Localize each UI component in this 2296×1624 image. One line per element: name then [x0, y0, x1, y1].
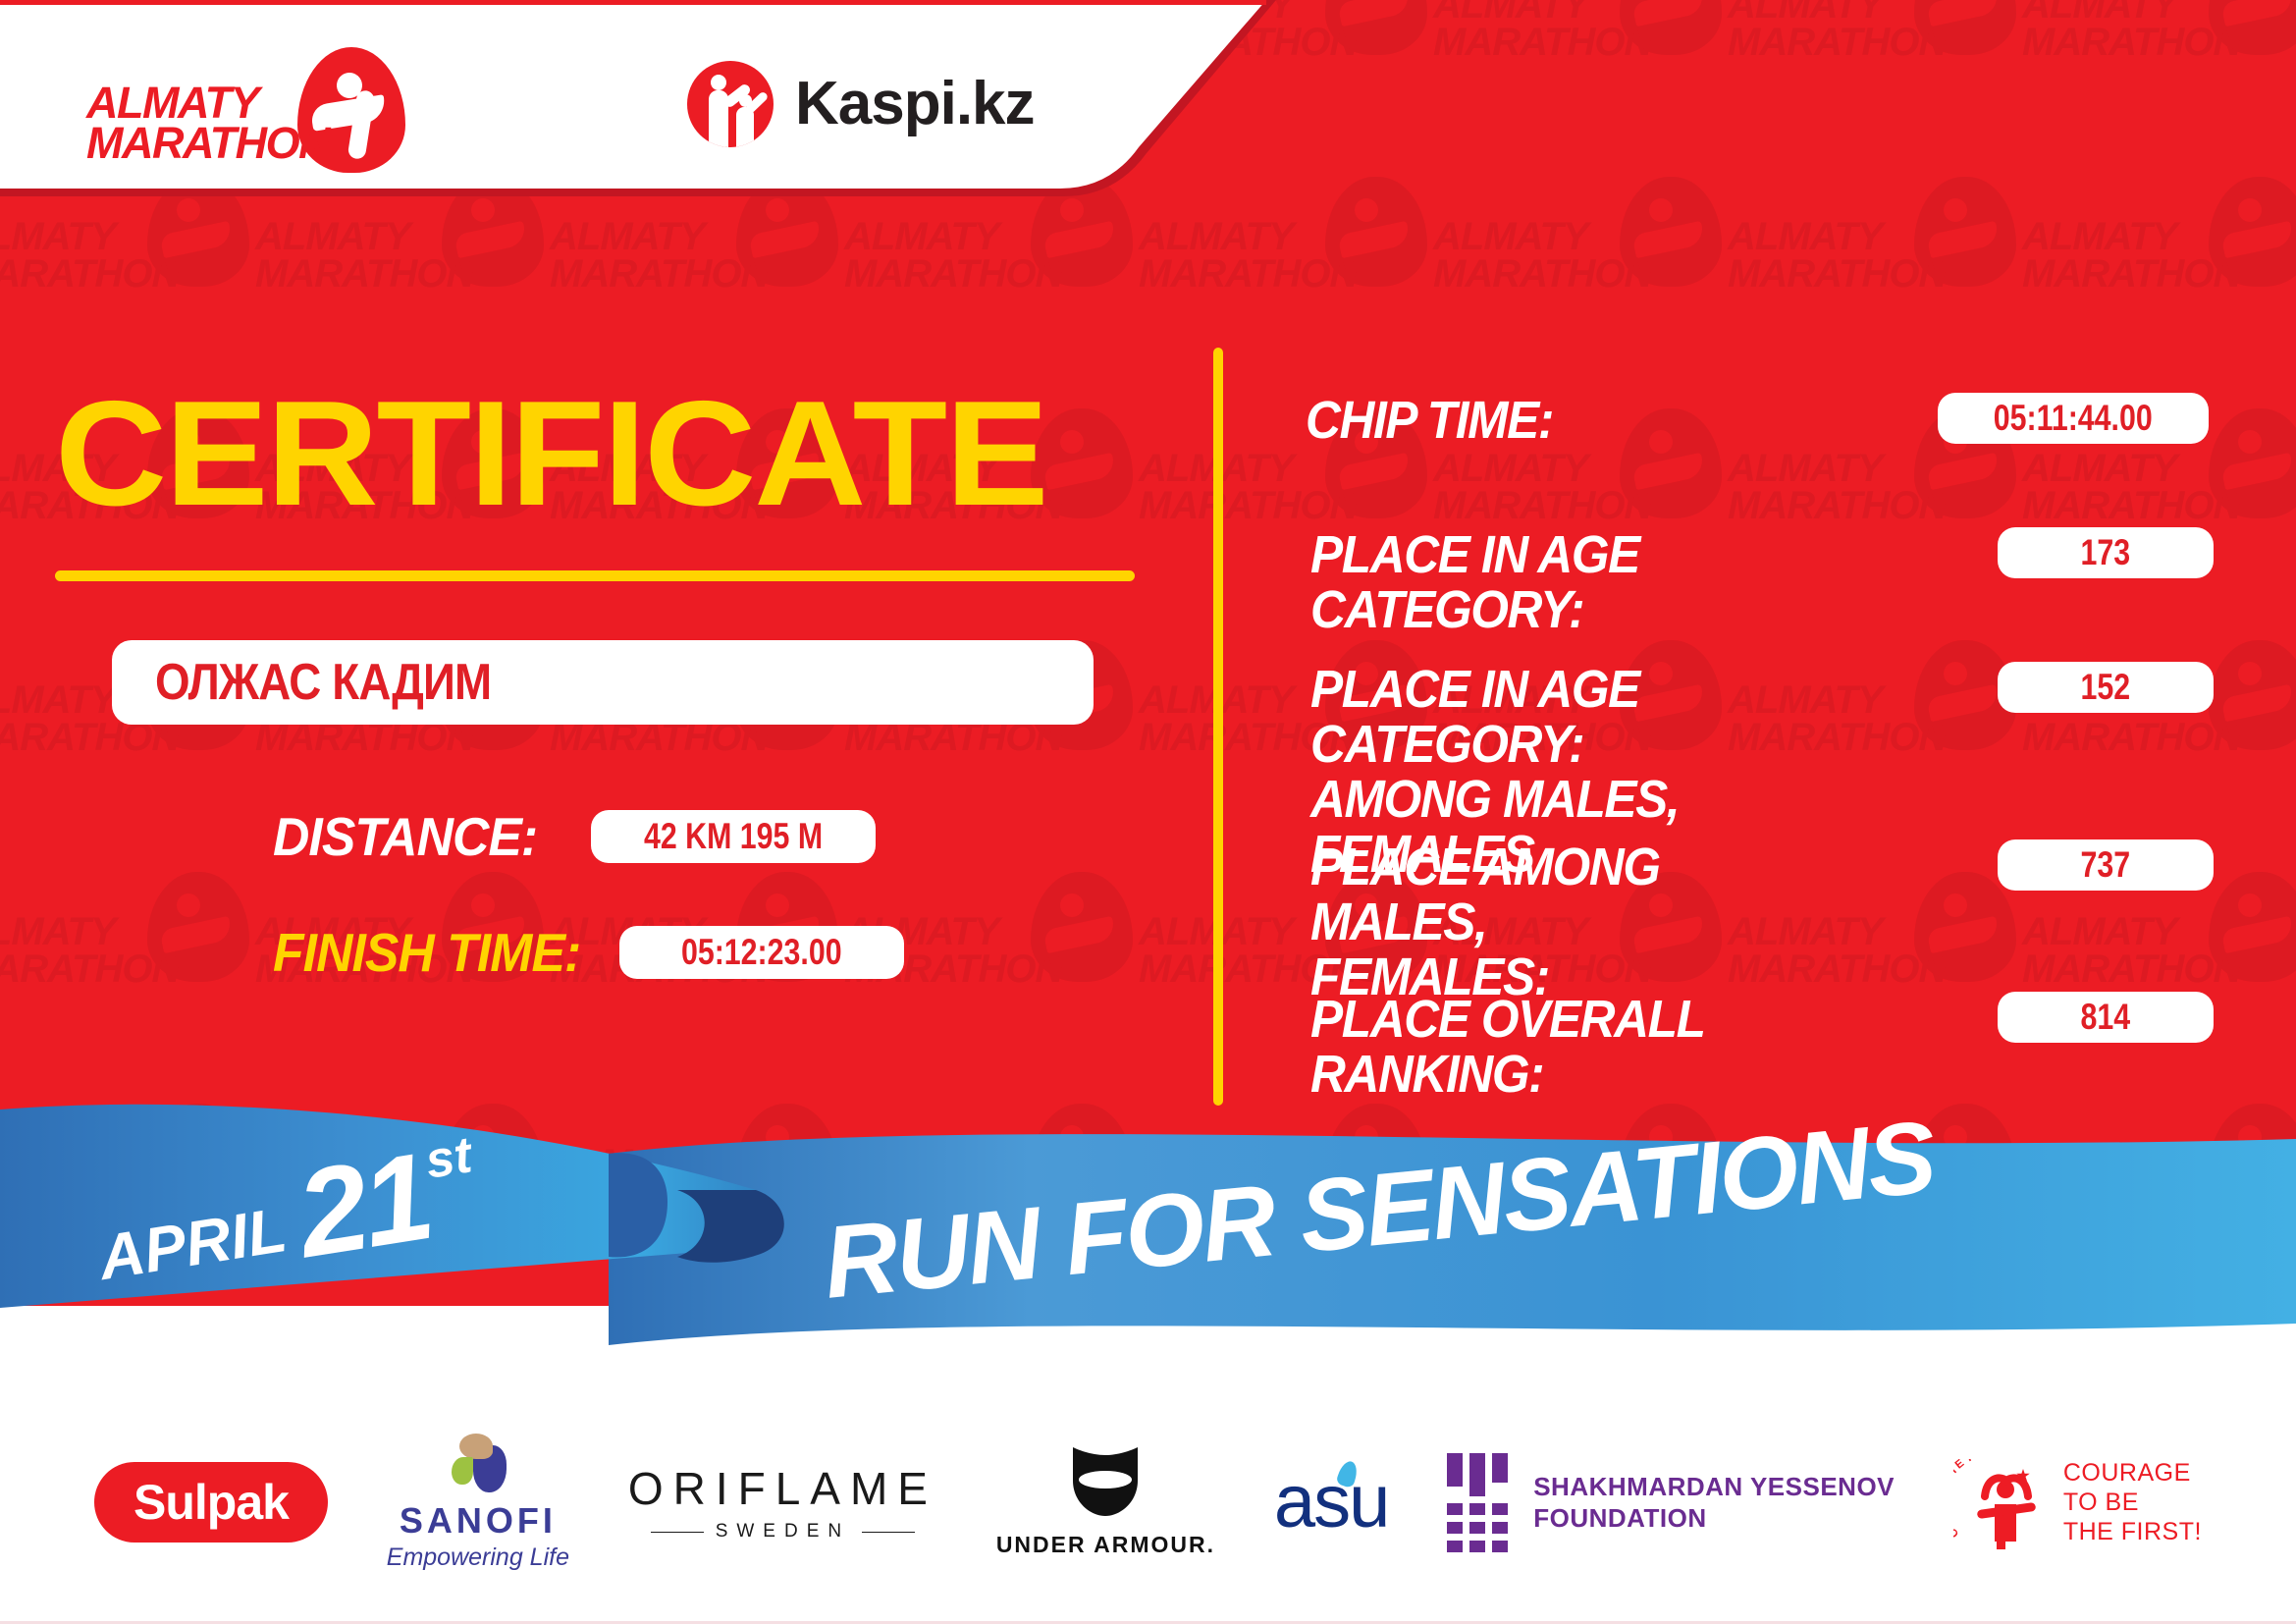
- courage-icon: CORPORATE FUND: [1953, 1455, 2048, 1549]
- stat-value-pill: 814: [1998, 992, 2214, 1043]
- stat-label: CHIP TIME:: [1306, 393, 1616, 448]
- distance-value: 42 KM 195 M: [644, 816, 823, 857]
- stat-value: 152: [2081, 667, 2131, 708]
- stat-row: PLACE OVERALL RANKING: 814: [1310, 992, 2214, 1102]
- courage-line3: THE FIRST!: [2063, 1517, 2202, 1546]
- page-title: CERTIFICATE: [55, 379, 1046, 528]
- sanofi-icon: [450, 1434, 507, 1494]
- stat-value: 814: [2081, 997, 2131, 1038]
- oriflame-wordmark: ORIFLAME: [628, 1462, 937, 1515]
- yessenov-icon: [1447, 1453, 1508, 1552]
- ribbon-ordinal: st: [421, 1125, 475, 1190]
- distance-row: DISTANCE: 42 KM 195 M: [273, 805, 876, 868]
- yessenov-line2: FOUNDATION: [1533, 1502, 1895, 1535]
- under-armour-wordmark: UNDER ARMOUR.: [996, 1532, 1215, 1558]
- stat-value-pill: 152: [1998, 662, 2214, 713]
- ribbon-day: 21: [291, 1143, 435, 1269]
- stat-row: CHIP TIME: 05:11:44.00: [1306, 393, 2209, 448]
- certificate-page: ALMATYMARATHONALMATYMARATHONALMATYMARATH…: [0, 0, 2296, 1624]
- stat-row: PLACE IN AGE CATEGORY: 173: [1310, 527, 2214, 637]
- courage-line2: TO BE: [2063, 1488, 2202, 1517]
- participant-name-field: ОЛЖАС КАДИМ: [112, 640, 1094, 725]
- yessenov-wordmark: SHAKHMARDAN YESSENOV FOUNDATION: [1533, 1471, 1895, 1535]
- courage-wordmark: COURAGE TO BE THE FIRST!: [2063, 1458, 2202, 1546]
- sulpak-wordmark: Sulpak: [133, 1474, 289, 1531]
- sponsor-bar: Sulpak SANOFI Empowering Life ORIFLAME S…: [0, 1404, 2296, 1600]
- finish-time-value-pill: 05:12:23.00: [619, 926, 904, 979]
- courage-figure-icon: [1983, 1471, 2030, 1542]
- sponsor-logo-yessenov: SHAKHMARDAN YESSENOV FOUNDATION: [1447, 1453, 1895, 1552]
- sponsor-logo-under-armour: UNDER ARMOUR.: [996, 1447, 1215, 1558]
- courage-line1: COURAGE: [2063, 1458, 2202, 1488]
- sponsor-logo-sulpak: Sulpak: [94, 1462, 328, 1543]
- sanofi-wordmark: SANOFI: [400, 1500, 557, 1542]
- distance-value-pill: 42 KM 195 M: [591, 810, 876, 863]
- oriflame-subtext: SWEDEN: [628, 1521, 937, 1543]
- sponsor-logo-asu: asu: [1274, 1465, 1389, 1540]
- sponsor-logo-oriflame: ORIFLAME SWEDEN: [628, 1462, 937, 1543]
- stat-value-pill: 737: [1998, 839, 2214, 891]
- finish-time-row: FINISH TIME: 05:12:23.00: [273, 921, 904, 984]
- distance-label: DISTANCE:: [273, 805, 537, 868]
- stat-value: 173: [2081, 532, 2131, 573]
- stat-value-pill: 05:11:44.00: [1938, 393, 2209, 444]
- sanofi-tagline: Empowering Life: [387, 1543, 569, 1572]
- participant-name: ОЛЖАС КАДИМ: [155, 653, 491, 712]
- asu-wordmark: asu: [1274, 1465, 1389, 1540]
- under-armour-icon: [1047, 1447, 1163, 1524]
- finish-time-value: 05:12:23.00: [681, 932, 842, 973]
- blue-ribbon: APRIL 21 st RUN FOR SENSATIONS: [0, 1100, 2296, 1414]
- stat-label: PLACE OVERALL RANKING:: [1310, 992, 1923, 1102]
- stat-label: PLACE AMONG MALES, FEMALES:: [1310, 839, 1843, 1004]
- stat-value: 737: [2081, 844, 2131, 886]
- stat-label: PLACE IN AGE CATEGORY:: [1310, 527, 1921, 637]
- finish-time-label: FINISH TIME:: [273, 921, 580, 984]
- sponsor-logo-sanofi: SANOFI Empowering Life: [387, 1434, 569, 1572]
- title-underline: [55, 570, 1135, 581]
- sponsor-logo-courage: CORPORATE FUND COURAGE: [1953, 1455, 2202, 1549]
- stat-value-pill: 173: [1998, 527, 2214, 578]
- stat-row: PLACE AMONG MALES, FEMALES: 737: [1310, 839, 2214, 1004]
- vertical-divider: [1213, 348, 1223, 1106]
- stat-value: 05:11:44.00: [1994, 398, 2153, 439]
- yessenov-line1: SHAKHMARDAN YESSENOV: [1533, 1471, 1895, 1503]
